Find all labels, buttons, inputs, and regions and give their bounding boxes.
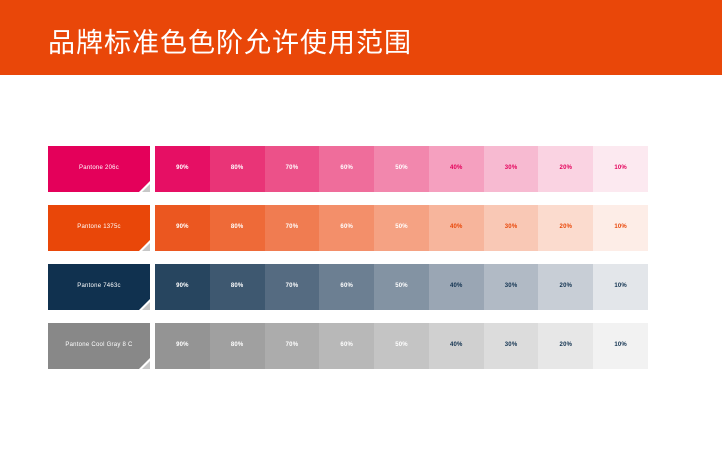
tint-percentage-label: 90% [176, 223, 189, 231]
tint-swatch[interactable]: 80% [210, 146, 265, 192]
folded-corner-icon [139, 358, 150, 369]
tint-percentage-label: 50% [395, 223, 408, 231]
tint-percentage-label: 40% [450, 164, 463, 172]
base-color-swatch[interactable]: Pantone 7463c [48, 264, 150, 310]
tint-swatch[interactable]: 20% [538, 146, 593, 192]
tint-swatch[interactable]: 80% [210, 264, 265, 310]
tint-percentage-label: 60% [340, 282, 353, 290]
tint-strip: 90%80%70%60%50%40%30%20%10% [155, 205, 648, 251]
tint-swatch[interactable]: 90% [155, 205, 210, 251]
tint-swatch[interactable]: 50% [374, 323, 429, 369]
tint-swatch[interactable]: 40% [429, 323, 484, 369]
base-color-swatch[interactable]: Pantone Cool Gray 8 C [48, 323, 150, 369]
tint-percentage-label: 70% [286, 341, 299, 349]
tint-swatch[interactable]: 30% [484, 205, 539, 251]
tint-swatch[interactable]: 90% [155, 323, 210, 369]
tint-percentage-label: 50% [395, 341, 408, 349]
page-header: 品牌标准色色阶允许使用范围 [0, 0, 722, 75]
tint-swatch[interactable]: 50% [374, 264, 429, 310]
tint-swatch[interactable]: 90% [155, 264, 210, 310]
tint-percentage-label: 80% [231, 341, 244, 349]
tint-percentage-label: 40% [450, 341, 463, 349]
tint-swatch[interactable]: 60% [319, 323, 374, 369]
folded-corner-icon [139, 299, 150, 310]
tint-swatch[interactable]: 30% [484, 146, 539, 192]
color-palette: Pantone 206c90%80%70%60%50%40%30%20%10%P… [48, 146, 648, 369]
tint-swatch[interactable]: 10% [593, 146, 648, 192]
tint-swatch[interactable]: 50% [374, 205, 429, 251]
tint-percentage-label: 20% [560, 223, 573, 231]
tint-swatch[interactable]: 60% [319, 264, 374, 310]
tint-percentage-label: 70% [286, 282, 299, 290]
tint-swatch[interactable]: 90% [155, 146, 210, 192]
tint-percentage-label: 70% [286, 164, 299, 172]
tint-percentage-label: 90% [176, 341, 189, 349]
folded-corner-icon [139, 240, 150, 251]
tint-percentage-label: 30% [505, 223, 518, 231]
tint-percentage-label: 20% [560, 164, 573, 172]
tint-swatch[interactable]: 60% [319, 146, 374, 192]
tint-percentage-label: 80% [231, 223, 244, 231]
tint-swatch[interactable]: 40% [429, 146, 484, 192]
tint-percentage-label: 10% [614, 164, 627, 172]
page-title: 品牌标准色色阶允许使用范围 [48, 26, 412, 60]
tint-percentage-label: 10% [614, 223, 627, 231]
tint-swatch[interactable]: 60% [319, 205, 374, 251]
tint-swatch[interactable]: 10% [593, 264, 648, 310]
tint-percentage-label: 10% [614, 341, 627, 349]
tint-percentage-label: 30% [505, 282, 518, 290]
tint-swatch[interactable]: 20% [538, 264, 593, 310]
tint-swatch[interactable]: 70% [265, 323, 320, 369]
tint-percentage-label: 80% [231, 282, 244, 290]
palette-row: Pantone 7463c90%80%70%60%50%40%30%20%10% [48, 264, 648, 310]
tint-swatch[interactable]: 30% [484, 264, 539, 310]
base-color-swatch[interactable]: Pantone 1375c [48, 205, 150, 251]
palette-row: Pantone Cool Gray 8 C90%80%70%60%50%40%3… [48, 323, 648, 369]
base-color-swatch[interactable]: Pantone 206c [48, 146, 150, 192]
tint-percentage-label: 50% [395, 164, 408, 172]
tint-swatch[interactable]: 20% [538, 323, 593, 369]
tint-percentage-label: 80% [231, 164, 244, 172]
tint-percentage-label: 50% [395, 282, 408, 290]
tint-strip: 90%80%70%60%50%40%30%20%10% [155, 264, 648, 310]
tint-percentage-label: 30% [505, 164, 518, 172]
tint-swatch[interactable]: 40% [429, 205, 484, 251]
tint-percentage-label: 60% [340, 164, 353, 172]
tint-percentage-label: 70% [286, 223, 299, 231]
tint-swatch[interactable]: 40% [429, 264, 484, 310]
tint-percentage-label: 30% [505, 341, 518, 349]
tint-percentage-label: 10% [614, 282, 627, 290]
tint-swatch[interactable]: 80% [210, 323, 265, 369]
base-color-label: Pantone 7463c [77, 282, 121, 291]
tint-swatch[interactable]: 10% [593, 205, 648, 251]
palette-row: Pantone 1375c90%80%70%60%50%40%30%20%10% [48, 205, 648, 251]
tint-swatch[interactable]: 70% [265, 264, 320, 310]
tint-swatch[interactable]: 80% [210, 205, 265, 251]
tint-swatch[interactable]: 70% [265, 205, 320, 251]
tint-swatch[interactable]: 30% [484, 323, 539, 369]
tint-percentage-label: 40% [450, 282, 463, 290]
base-color-label: Pantone Cool Gray 8 C [65, 341, 132, 350]
tint-percentage-label: 90% [176, 282, 189, 290]
tint-swatch[interactable]: 50% [374, 146, 429, 192]
folded-corner-icon [139, 181, 150, 192]
base-color-label: Pantone 206c [79, 164, 119, 173]
tint-percentage-label: 90% [176, 164, 189, 172]
palette-row: Pantone 206c90%80%70%60%50%40%30%20%10% [48, 146, 648, 192]
tint-swatch[interactable]: 70% [265, 146, 320, 192]
tint-percentage-label: 20% [560, 341, 573, 349]
base-color-label: Pantone 1375c [77, 223, 121, 232]
tint-percentage-label: 40% [450, 223, 463, 231]
tint-percentage-label: 60% [340, 223, 353, 231]
tint-percentage-label: 20% [560, 282, 573, 290]
tint-percentage-label: 60% [340, 341, 353, 349]
tint-swatch[interactable]: 10% [593, 323, 648, 369]
tint-strip: 90%80%70%60%50%40%30%20%10% [155, 146, 648, 192]
tint-strip: 90%80%70%60%50%40%30%20%10% [155, 323, 648, 369]
tint-swatch[interactable]: 20% [538, 205, 593, 251]
